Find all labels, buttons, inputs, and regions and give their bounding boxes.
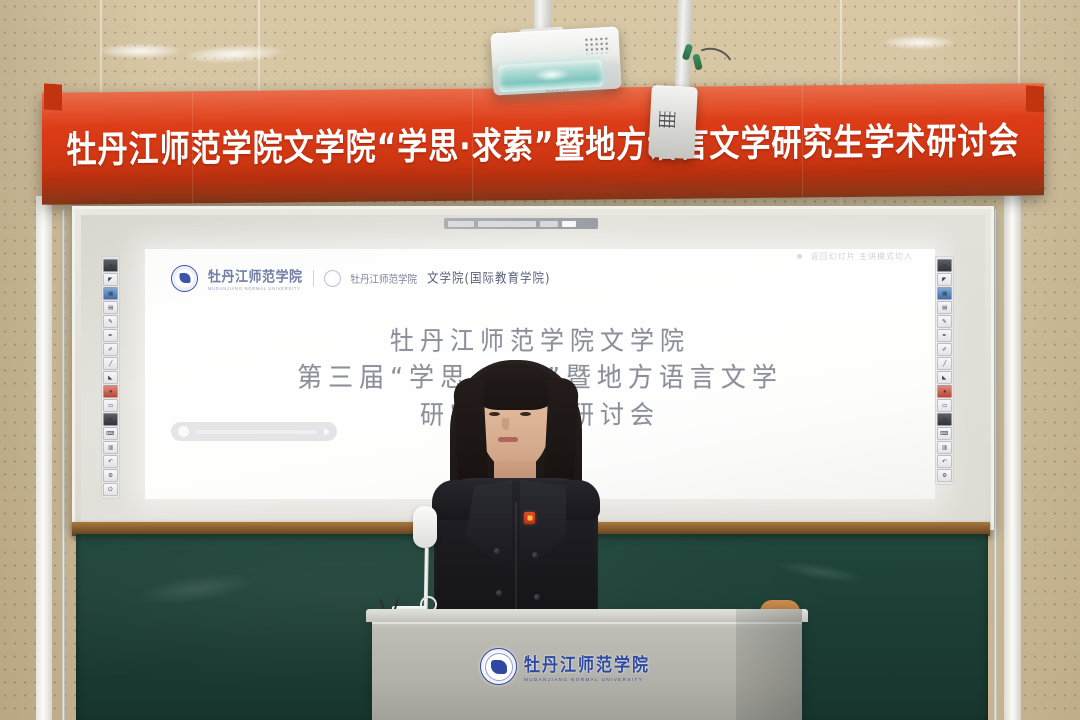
brush-tool-icon[interactable]: ✒ — [103, 329, 118, 342]
window-tool-icon-glyph: ▤ — [108, 305, 113, 311]
shoulder-left — [432, 480, 472, 520]
chalk-smudge — [135, 568, 257, 610]
brush-tool-icon-glyph: ✒ — [108, 333, 113, 339]
eye-right — [520, 412, 531, 416]
board-rail-left — [62, 210, 65, 720]
university-logo-small-icon — [324, 270, 341, 287]
marker-tool-icon[interactable]: ✐ — [103, 343, 118, 356]
undo-tool-icon[interactable]: ↶ — [937, 455, 952, 468]
pointer-tool-icon[interactable]: ◤ — [937, 273, 952, 286]
highlighter-tool-icon-glyph: ╱ — [109, 361, 112, 367]
hair-fringe — [473, 364, 557, 410]
keyboard-tool-icon[interactable]: ⌨ — [937, 427, 952, 440]
shoulder-right — [560, 480, 600, 520]
slide-mode-label: 返回幻灯片 主讲模式切入 — [811, 251, 913, 262]
podium-side-panel — [736, 609, 802, 720]
select-tool-icon-glyph: ■ — [943, 263, 946, 269]
shape-tool-icon[interactable]: ▭ — [937, 399, 952, 412]
settings-tool-icon-glyph: ⚙ — [942, 473, 947, 479]
page-tool-icon[interactable]: ▥ — [103, 441, 118, 454]
board-rail-right — [994, 210, 997, 720]
banner-corner-right — [1026, 85, 1044, 112]
page-tool-icon-glyph: ▥ — [108, 445, 113, 451]
podium-university-emblem: 牡丹江师范学院 MUDANJIANG NORMAL UNIVERSITY — [480, 648, 650, 685]
ceiling-light-reflection — [100, 44, 180, 58]
marker-tool-icon-glyph: ✐ — [108, 347, 113, 353]
university-logo-icon — [171, 265, 198, 292]
color-tool-icon[interactable]: ● — [937, 385, 952, 398]
settings-tool-icon[interactable]: ⚙ — [937, 469, 952, 482]
next-triangle-icon[interactable] — [324, 428, 330, 436]
keyboard-tool-icon-glyph: ⌨ — [940, 431, 948, 437]
lectern-podium: 牡丹江师范学院 MUDANJIANG NORMAL UNIVERSITY — [372, 618, 802, 720]
chalk-smudge — [775, 556, 866, 587]
settings-tool-icon-glyph: ⚙ — [108, 473, 113, 479]
eraser-tool-icon-glyph: ◣ — [942, 375, 946, 381]
podium-logo-text-en: MUDANJIANG NORMAL UNIVERSITY — [524, 677, 650, 682]
image-tool-icon-glyph: ▦ — [108, 291, 113, 297]
undo-tool-icon-glyph: ↶ — [942, 459, 947, 465]
pointer-tool-icon-glyph: ◤ — [108, 277, 112, 283]
slide-top-status-strip[interactable] — [444, 218, 598, 229]
camera-tool-icon[interactable]: ▣ — [103, 413, 118, 426]
color-tool-icon[interactable]: ● — [103, 385, 118, 398]
whiteboard-toolbar-left[interactable]: ■◤▦▤✎✒✐╱◣●▭▣⌨▥↶⚙⏻ — [101, 256, 120, 499]
eraser-tool-icon[interactable]: ◣ — [937, 371, 952, 384]
university-name: 牡丹江师范学院 — [208, 265, 303, 286]
pen-tool-icon[interactable]: ✎ — [103, 315, 118, 328]
undo-tool-icon-glyph: ↶ — [108, 459, 113, 465]
status-chip — [448, 221, 474, 227]
image-tool-icon[interactable]: ▦ — [103, 287, 118, 300]
slide-header: 牡丹江师范学院 MUDANJIANG NORMAL UNIVERSITY 牡丹江… — [171, 263, 915, 293]
banner-title: 牡丹江师范学院文学院“学思·求索”暨地方语言文学研究生学术研讨会 — [67, 111, 1020, 174]
highlighter-tool-icon-glyph: ╱ — [943, 361, 946, 367]
window-tool-icon-glyph: ▤ — [942, 305, 947, 311]
image-tool-icon[interactable]: ▦ — [937, 287, 952, 300]
pointer-tool-icon[interactable]: ◤ — [103, 273, 118, 286]
lapel-pin-badge — [524, 512, 535, 524]
projector-lens — [498, 59, 603, 92]
university-name-en: MUDANJIANG NORMAL UNIVERSITY — [208, 286, 303, 291]
camera-tool-icon[interactable]: ▣ — [937, 413, 952, 426]
department-name: 文学院(国际教育学院) — [427, 269, 550, 287]
exit-tool-icon-glyph: ⏻ — [108, 487, 113, 493]
coat-button — [496, 590, 502, 596]
coat-button — [534, 594, 540, 600]
coat-button — [494, 548, 500, 554]
progress-bar[interactable] — [196, 430, 317, 434]
mouth — [498, 437, 518, 442]
status-chip — [540, 221, 558, 227]
color-tool-icon-glyph: ● — [943, 389, 946, 395]
select-tool-icon[interactable]: ■ — [103, 259, 118, 272]
image-tool-icon-glyph: ▦ — [942, 291, 947, 297]
select-tool-icon-glyph: ■ — [109, 263, 112, 269]
camera-tool-icon-glyph: ▣ — [108, 417, 113, 423]
whiteboard-toolbar-right[interactable]: ■◤▦▤✎✒✐╱◣●▭▣⌨▥↶⚙ — [935, 256, 954, 485]
nose — [502, 418, 509, 430]
keyboard-tool-icon[interactable]: ⌨ — [103, 427, 118, 440]
presentation-scene: 牡丹江师范学院文学院“学思·求索”暨地方语言文学研究生学术研讨会 Panason… — [0, 0, 1080, 720]
pen-tool-icon-glyph: ✎ — [942, 319, 947, 325]
eye-left — [489, 412, 500, 416]
page-tool-icon-glyph: ▥ — [942, 445, 947, 451]
marker-tool-icon-glyph: ✐ — [942, 347, 947, 353]
window-tool-icon[interactable]: ▤ — [937, 301, 952, 314]
eraser-tool-icon-glyph: ◣ — [108, 375, 112, 381]
projector-vent-grille — [584, 36, 609, 54]
podium-logo-icon — [480, 648, 517, 685]
keyboard-tool-icon-glyph: ⌨ — [106, 431, 114, 437]
coat-button — [532, 552, 538, 558]
wall-control-unit — [648, 85, 698, 159]
highlighter-tool-icon[interactable]: ╱ — [103, 357, 118, 370]
header-divider — [313, 270, 314, 287]
wall-track-column-left — [36, 196, 52, 720]
shape-tool-icon-glyph: ▭ — [942, 403, 947, 409]
slide-mode-controls[interactable]: 返回幻灯片 主讲模式切入 — [797, 251, 913, 262]
marker-tool-icon[interactable]: ✐ — [937, 343, 952, 356]
eraser-tool-icon[interactable]: ◣ — [103, 371, 118, 384]
brush-tool-icon[interactable]: ✒ — [937, 329, 952, 342]
department-mark: 牡丹江师范学院 — [351, 270, 418, 285]
highlighter-tool-icon[interactable]: ╱ — [937, 357, 952, 370]
shape-tool-icon-glyph: ▭ — [108, 403, 113, 409]
settings-tool-icon[interactable]: ⚙ — [103, 469, 118, 482]
exit-tool-icon[interactable]: ⏻ — [103, 483, 118, 496]
status-chip — [478, 221, 536, 227]
ceiling-light-reflection — [884, 36, 954, 49]
camera-tool-icon-glyph: ▣ — [942, 417, 947, 423]
status-chip — [562, 221, 576, 227]
pointer-tool-icon-glyph: ◤ — [942, 277, 946, 283]
window-tool-icon[interactable]: ▤ — [103, 301, 118, 314]
microphone-head — [413, 506, 437, 548]
shape-tool-icon[interactable]: ▭ — [103, 399, 118, 412]
select-tool-icon[interactable]: ■ — [937, 259, 952, 272]
undo-tool-icon[interactable]: ↶ — [103, 455, 118, 468]
mode-dot-icon — [797, 254, 802, 259]
qr-code-label — [659, 111, 676, 128]
wall-track-column-right — [1004, 196, 1021, 720]
pen-tool-icon-glyph: ✎ — [108, 319, 113, 325]
play-circle-icon[interactable] — [178, 426, 189, 437]
slide-playback-control[interactable] — [171, 422, 337, 441]
page-tool-icon[interactable]: ▥ — [937, 441, 952, 454]
speaker-person — [432, 352, 600, 652]
event-banner: 牡丹江师范学院文学院“学思·求索”暨地方语言文学研究生学术研讨会 — [42, 83, 1044, 205]
banner-corner-left — [44, 83, 62, 110]
pen-tool-icon[interactable]: ✎ — [937, 315, 952, 328]
ceiling-projector: Panasonic — [490, 26, 621, 95]
podium-logo-text: 牡丹江师范学院 — [524, 649, 650, 677]
color-tool-icon-glyph: ● — [109, 389, 112, 395]
brush-tool-icon-glyph: ✒ — [942, 333, 947, 339]
